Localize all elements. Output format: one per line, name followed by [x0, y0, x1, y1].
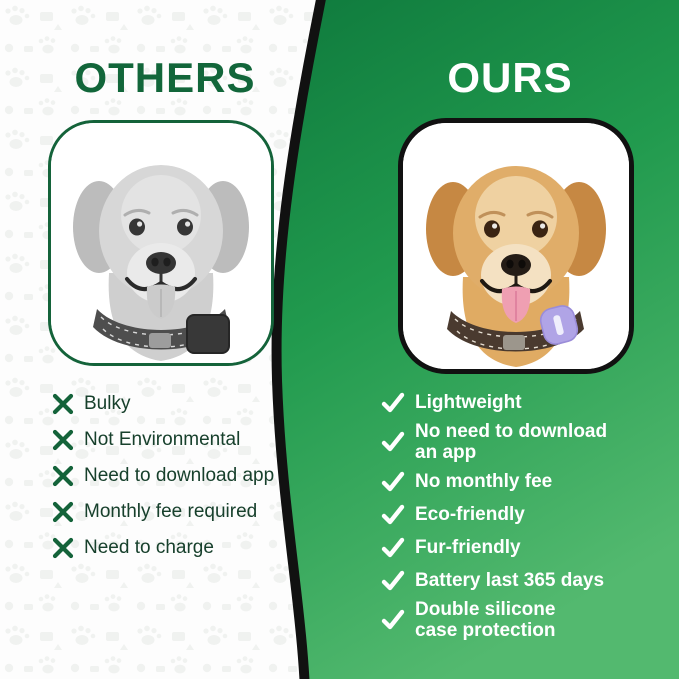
check-mark-icon	[380, 469, 406, 495]
list-item: Not Environmental	[50, 422, 320, 458]
list-item-label: Need to charge	[76, 537, 214, 558]
check-mark-icon	[380, 502, 406, 528]
x-mark-icon	[50, 499, 76, 525]
dog-photo-others	[51, 123, 271, 363]
list-item: Double silicone case protection	[380, 597, 656, 643]
list-item-line: No need to download	[415, 421, 607, 442]
list-item-line: Double silicone	[415, 599, 555, 620]
list-item-label: Battery last 365 days	[406, 570, 604, 591]
list-item-label: Lightweight	[406, 392, 522, 413]
list-item: Monthly fee required	[50, 494, 320, 530]
page-title-ours: OURS	[360, 54, 660, 102]
list-item: Bulky	[50, 386, 320, 422]
comparison-infographic: OTHERS OURS	[0, 0, 679, 679]
x-mark-icon	[50, 391, 76, 417]
list-item-label-multiline: No need to download an app	[406, 421, 607, 464]
list-item-label: No monthly fee	[406, 471, 552, 492]
list-item: Lightweight	[380, 386, 656, 419]
list-item-line: case protection	[415, 620, 555, 641]
others-cons-list: Bulky Not Environmental Need to download…	[50, 386, 320, 566]
list-item: Fur-friendly	[380, 531, 656, 564]
list-item-label: Monthly fee required	[76, 501, 257, 522]
list-item-label-multiline: Double silicone case protection	[406, 599, 555, 642]
list-item: No monthly fee	[380, 465, 656, 498]
check-mark-icon	[380, 607, 406, 633]
x-mark-icon	[50, 427, 76, 453]
ours-product-image-frame	[398, 118, 634, 374]
list-item-line: an app	[415, 442, 476, 463]
list-item: Need to download app	[50, 458, 320, 494]
check-mark-icon	[380, 535, 406, 561]
list-item: No need to download an app	[380, 419, 656, 465]
list-item: Need to charge	[50, 530, 320, 566]
check-mark-icon	[380, 390, 406, 416]
list-item-label: Bulky	[76, 393, 130, 414]
list-item: Battery last 365 days	[380, 564, 656, 597]
x-mark-icon	[50, 463, 76, 489]
list-item-label: Need to download app	[76, 465, 274, 486]
list-item-label: Not Environmental	[76, 429, 240, 450]
others-product-image-frame	[48, 120, 274, 366]
dog-photo-ours	[403, 123, 629, 369]
list-item-label: Eco-friendly	[406, 504, 525, 525]
ours-pros-list: Lightweight No need to download an app N…	[380, 386, 656, 643]
check-mark-icon	[380, 429, 406, 455]
list-item: Eco-friendly	[380, 498, 656, 531]
list-item-label: Fur-friendly	[406, 537, 521, 558]
page-title-others: OTHERS	[0, 54, 330, 102]
check-mark-icon	[380, 568, 406, 594]
x-mark-icon	[50, 535, 76, 561]
